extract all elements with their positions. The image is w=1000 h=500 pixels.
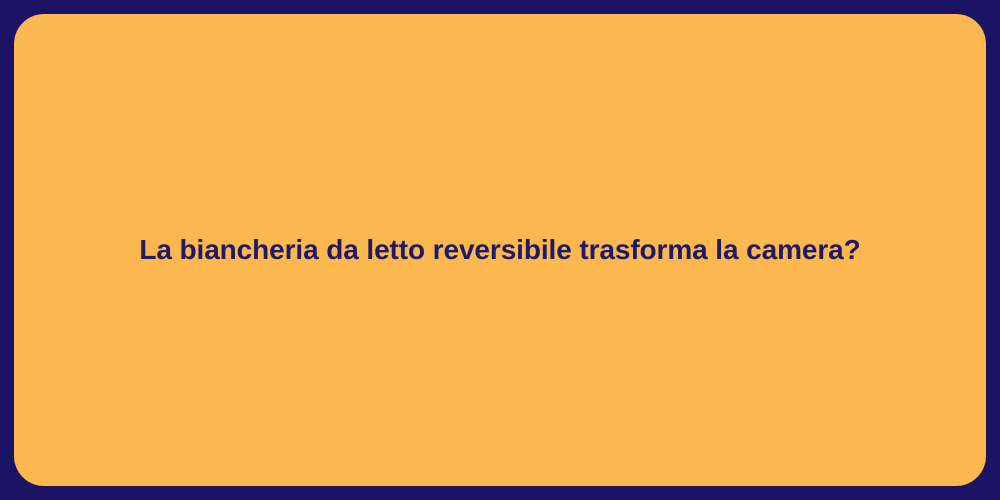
banner-frame: La biancheria da letto reversibile trasf… <box>0 0 1000 500</box>
banner-card: La biancheria da letto reversibile trasf… <box>14 14 986 486</box>
banner-heading: La biancheria da letto reversibile trasf… <box>139 231 860 269</box>
